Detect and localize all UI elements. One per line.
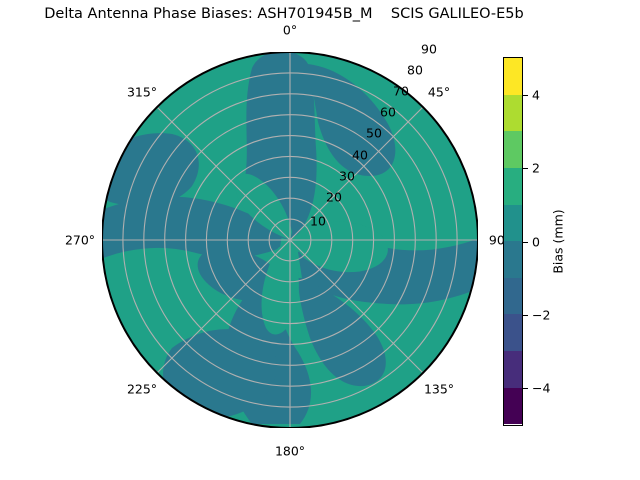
colorbar-tick-mark-4 (523, 95, 528, 96)
colorbar-axis-label-text: Bias (mm) (551, 209, 566, 273)
radial-tick-60: 60 (380, 105, 396, 120)
angular-tick-225: 225° (127, 382, 157, 397)
colorbar-band-1 (504, 95, 522, 132)
angular-tick-180: 180° (275, 444, 305, 459)
radial-tick-70: 70 (393, 84, 409, 99)
colorbar-tick-mark-−4 (523, 388, 528, 389)
colorbar-tick-label-0: 0 (532, 234, 540, 249)
colorbar-tick-label-4: 4 (532, 87, 540, 102)
colorbar-band-8 (504, 351, 522, 388)
angular-tick-270: 270° (65, 233, 95, 248)
angular-tick-315: 315° (127, 85, 157, 100)
angular-tick-135: 135° (424, 382, 454, 397)
colorbar-band-7 (504, 314, 522, 351)
radial-tick-20: 20 (326, 190, 342, 205)
radial-tick-90: 90 (421, 42, 437, 57)
polar-grid-spokes (102, 52, 478, 428)
colorbar-band-3 (504, 168, 522, 205)
radial-tick-30: 30 (339, 169, 355, 184)
colorbar-band-9 (504, 388, 522, 425)
polar-plot-area[interactable]: 0° 45° 90° 135° 180° 225° 270° 315° 10 2… (102, 52, 478, 428)
page-title: Delta Antenna Phase Biases: ASH701945B_M… (0, 6, 568, 22)
colorbar-tick-mark-2 (523, 168, 528, 169)
colorbar-band-0 (504, 58, 522, 95)
colorbar-band-6 (504, 278, 522, 315)
radial-tick-10: 10 (310, 214, 326, 229)
radial-tick-40: 40 (352, 148, 368, 163)
polar-contour-svg (102, 52, 478, 428)
colorbar[interactable] (503, 57, 523, 426)
colorbar-band-4 (504, 205, 522, 242)
figure-canvas: Delta Antenna Phase Biases: ASH701945B_M… (0, 0, 640, 480)
colorbar-tick-label-2: 2 (532, 161, 540, 176)
colorbar-band-2 (504, 131, 522, 168)
angular-tick-45: 45° (428, 85, 450, 100)
colorbar-tick-mark-0 (523, 242, 528, 243)
angular-tick-0: 0° (283, 23, 297, 38)
radial-tick-80: 80 (407, 63, 423, 78)
colorbar-tick-mark-−2 (523, 315, 528, 316)
colorbar-band-5 (504, 241, 522, 278)
radial-tick-50: 50 (366, 126, 382, 141)
colorbar-axis-label: Bias (mm) (548, 57, 568, 426)
